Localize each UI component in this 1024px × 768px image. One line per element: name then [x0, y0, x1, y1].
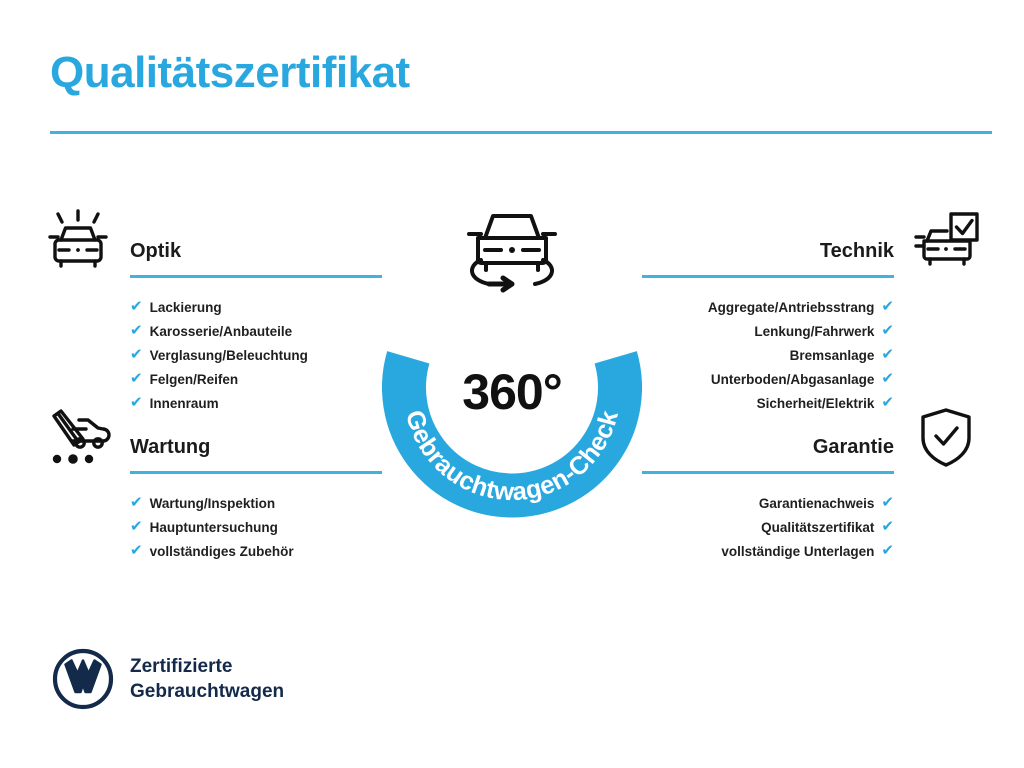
check-icon: ✔	[881, 299, 894, 314]
title-divider	[50, 131, 992, 134]
list-item-label: Garantienachweis	[759, 492, 875, 516]
list-item-label: vollständige Unterlagen	[721, 540, 874, 564]
car-service-pen-icon	[42, 402, 114, 474]
badge-curved-label: Gebrauchtwagen-Check	[400, 407, 624, 506]
list-item: ✔vollständiges Zubehör	[130, 540, 382, 564]
section-garantie: Garantie Garantienachweis✔ Qualitätszert…	[642, 434, 982, 564]
section-header: Garantie	[642, 434, 982, 478]
shield-check-icon	[910, 402, 982, 474]
list-item: Lenkung/Fahrwerk✔	[642, 320, 894, 344]
vw-lockup-line2: Gebrauchtwagen	[130, 679, 284, 704]
list-item-label: Karosserie/Anbauteile	[150, 320, 293, 344]
vw-lockup-line1: Zertifizierte	[130, 654, 284, 679]
list-item: vollständige Unterlagen✔	[642, 540, 894, 564]
section-header: Wartung	[42, 434, 382, 478]
checklist-wartung: ✔Wartung/Inspektion ✔Hauptuntersuchung ✔…	[42, 492, 382, 564]
certificate-page: Qualitätszertifikat	[0, 0, 1024, 768]
check-icon: ✔	[130, 543, 143, 558]
list-item: Unterboden/Abgasanlage✔	[642, 368, 894, 392]
check-icon: ✔	[881, 495, 894, 510]
check-icon: ✔	[130, 323, 143, 338]
section-divider	[642, 471, 894, 474]
list-item: Qualitätszertifikat✔	[642, 516, 894, 540]
list-item-label: Wartung/Inspektion	[150, 492, 276, 516]
360-check-badge: Gebrauchtwagen-Check 360°	[382, 262, 642, 522]
check-icon: ✔	[130, 299, 143, 314]
list-item-label: Lenkung/Fahrwerk	[754, 320, 874, 344]
list-item-label: vollständiges Zubehör	[150, 540, 294, 564]
list-item: ✔Innenraum	[130, 392, 382, 416]
list-item-label: Verglasung/Beleuchtung	[150, 344, 308, 368]
list-item-label: Lackierung	[150, 296, 222, 320]
list-item-label: Qualitätszertifikat	[761, 516, 874, 540]
vw-lockup-text: Zertifizierte Gebrauchtwagen	[130, 654, 284, 704]
list-item: ✔Hauptuntersuchung	[130, 516, 382, 540]
list-item-label: Innenraum	[150, 392, 219, 416]
vw-logo	[52, 648, 114, 710]
list-item: ✔Karosserie/Anbauteile	[130, 320, 382, 344]
list-item-label: Hauptuntersuchung	[150, 516, 278, 540]
section-divider	[642, 275, 894, 278]
list-item: ✔Wartung/Inspektion	[130, 492, 382, 516]
check-icon: ✔	[130, 371, 143, 386]
section-divider	[130, 275, 382, 278]
list-item: Aggregate/Antriebsstrang✔	[642, 296, 894, 320]
check-icon: ✔	[881, 395, 894, 410]
check-icon: ✔	[881, 519, 894, 534]
check-icon: ✔	[881, 543, 894, 558]
list-item: Sicherheit/Elektrik✔	[642, 392, 894, 416]
check-icon: ✔	[881, 347, 894, 362]
list-item-label: Unterboden/Abgasanlage	[711, 368, 875, 392]
check-icon: ✔	[130, 395, 143, 410]
list-item-label: Felgen/Reifen	[150, 368, 239, 392]
section-technik: Technik Aggregate/Antriebsstrang✔ Lenkun…	[642, 238, 982, 416]
checklist-technik: Aggregate/Antriebsstrang✔ Lenkung/Fahrwe…	[642, 296, 982, 416]
section-header: Technik	[642, 238, 982, 282]
car-checkbox-icon	[910, 206, 982, 278]
check-icon: ✔	[130, 495, 143, 510]
list-item: ✔Lackierung	[130, 296, 382, 320]
list-item-label: Bremsanlage	[790, 344, 875, 368]
vw-certified-lockup: Zertifizierte Gebrauchtwagen	[52, 648, 284, 710]
checklist-garantie: Garantienachweis✔ Qualitätszertifikat✔ v…	[642, 492, 982, 564]
section-wartung: Wartung ✔Wartung/Inspektion ✔Hauptunters…	[42, 434, 382, 564]
car-shine-icon	[42, 206, 114, 278]
list-item-label: Aggregate/Antriebsstrang	[708, 296, 875, 320]
check-icon: ✔	[881, 371, 894, 386]
section-optik: Optik ✔Lackierung ✔Karosserie/Anbauteile…	[42, 238, 382, 416]
check-icon: ✔	[130, 519, 143, 534]
page-title: Qualitätszertifikat	[50, 48, 410, 99]
list-item-label: Sicherheit/Elektrik	[757, 392, 875, 416]
list-item: ✔Felgen/Reifen	[130, 368, 382, 392]
section-divider	[130, 471, 382, 474]
check-icon: ✔	[130, 347, 143, 362]
car-rotate-icon	[447, 198, 577, 298]
list-item: Bremsanlage✔	[642, 344, 894, 368]
list-item: Garantienachweis✔	[642, 492, 894, 516]
list-item: ✔Verglasung/Beleuchtung	[130, 344, 382, 368]
check-icon: ✔	[881, 323, 894, 338]
section-header: Optik	[42, 238, 382, 282]
checklist-optik: ✔Lackierung ✔Karosserie/Anbauteile ✔Verg…	[42, 296, 382, 416]
